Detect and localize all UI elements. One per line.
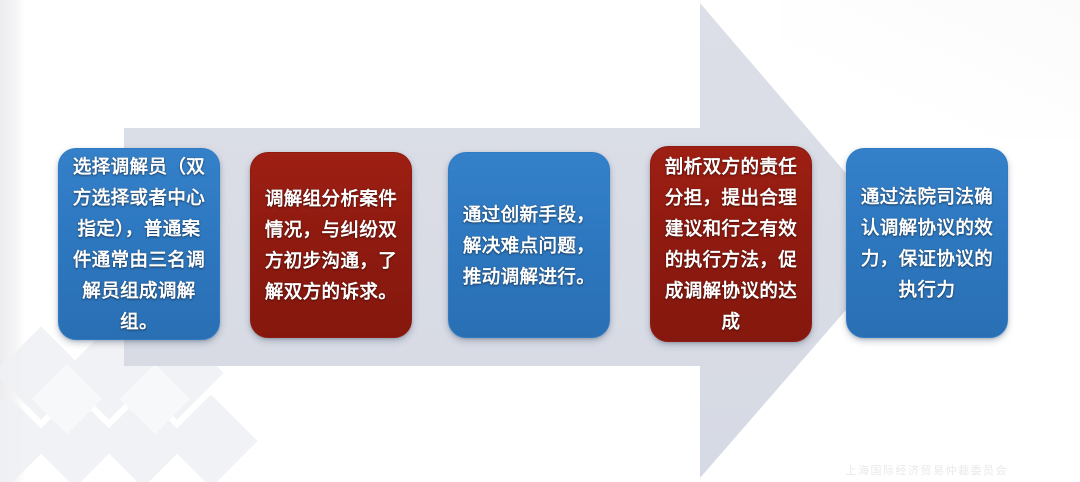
process-step-1[interactable]: 选择调解员（双 方选择或者中心 指定），普通案 件通常由三名调 解员组成调解组。: [58, 148, 220, 340]
process-step-5[interactable]: 通过法院司法确 认调解协议的效 力，保证协议的 执行力: [846, 148, 1008, 338]
process-step-2[interactable]: 调解组分析案件 情况，与纠纷双 方初步沟通，了 解双方的诉求。: [250, 152, 412, 338]
process-step-1-text: 选择调解员（双 方选择或者中心 指定），普通案 件通常由三名调 解员组成调解组。: [70, 151, 208, 337]
process-step-2-text: 调解组分析案件 情况，与纠纷双 方初步沟通，了 解双方的诉求。: [265, 183, 397, 307]
process-step-3[interactable]: 通过创新手段， 解决难点问题， 推动调解进行。: [448, 152, 610, 338]
process-step-4-text: 剖析双方的责任 分担，提出合理 建议和行之有效 的执行方法，促 成调解协议的达 …: [665, 151, 797, 337]
slide-canvas: 选择调解员（双 方选择或者中心 指定），普通案 件通常由三名调 解员组成调解组。…: [0, 0, 1080, 482]
process-step-4[interactable]: 剖析双方的责任 分担，提出合理 建议和行之有效 的执行方法，促 成调解协议的达 …: [650, 146, 812, 342]
watermark-text: 上海国际经济贸易仲裁委员会: [846, 462, 1009, 478]
process-step-3-text: 通过创新手段， 解决难点问题， 推动调解进行。: [463, 199, 595, 292]
process-step-5-text: 通过法院司法确 认调解协议的效 力，保证协议的 执行力: [861, 181, 993, 305]
